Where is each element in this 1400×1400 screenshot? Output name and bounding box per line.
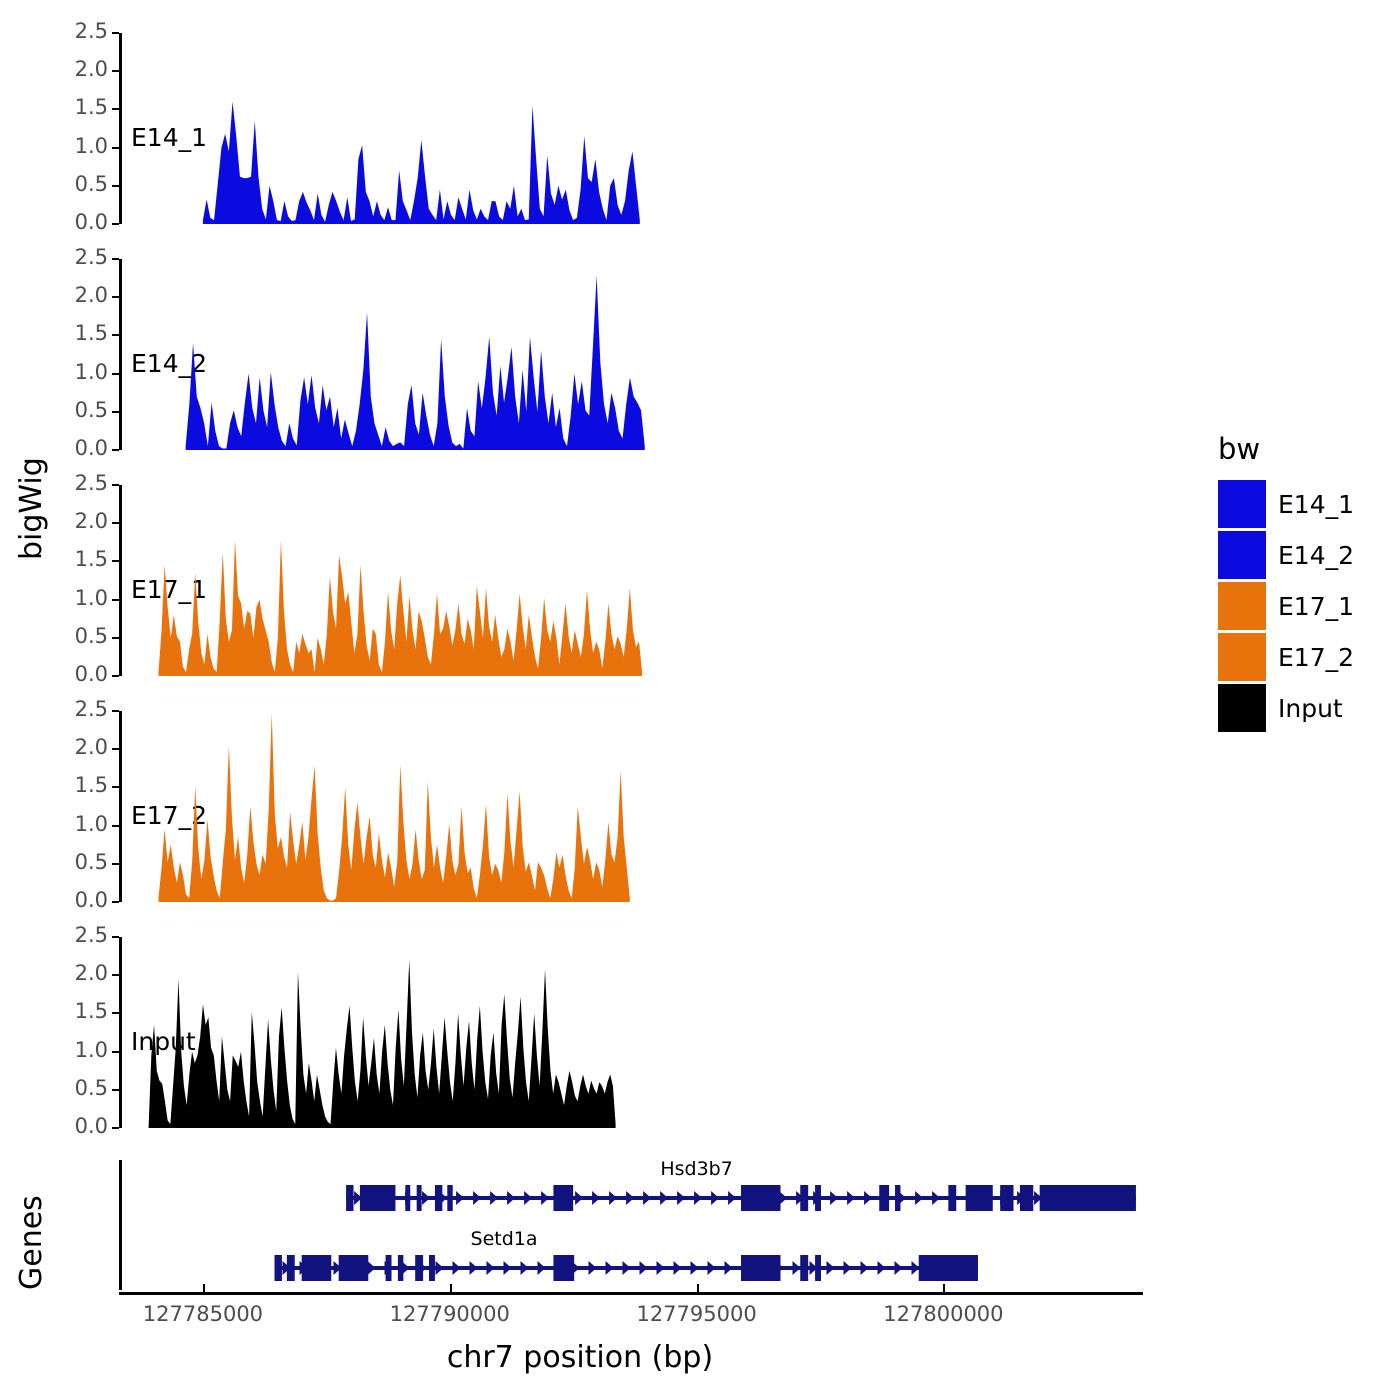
y-tick-label: 1.5 — [3, 321, 108, 345]
x-axis-title: chr7 position (bp) — [0, 1340, 1160, 1375]
y-tick-label: 1.0 — [3, 360, 108, 384]
strand-arrow-icon — [677, 1191, 685, 1205]
y-tick-mark — [112, 748, 119, 750]
gene-exon-box — [346, 1185, 353, 1211]
track-area-input — [119, 937, 1137, 1129]
strand-arrow-icon — [504, 1261, 512, 1275]
strand-arrow-icon — [422, 1191, 430, 1205]
strand-arrow-icon — [793, 1261, 801, 1275]
y-tick-mark — [112, 1012, 119, 1014]
x-tick-label: 127790000 — [350, 1302, 550, 1326]
y-tick-mark — [112, 1089, 119, 1091]
y-tick-mark — [112, 522, 119, 524]
gene-exon-box — [919, 1255, 978, 1281]
gene-exon-box — [1000, 1185, 1013, 1211]
area-polygon — [186, 276, 645, 450]
y-tick-mark — [112, 108, 119, 110]
legend-swatch-e17_1[interactable] — [1218, 582, 1266, 630]
strand-arrow-icon — [521, 1261, 529, 1275]
y-tick-label: 0.5 — [3, 850, 108, 874]
strand-arrow-icon — [725, 1261, 733, 1275]
gene-exon-box — [275, 1255, 282, 1281]
y-tick-label: 2.0 — [3, 57, 108, 81]
gene-exon-box — [405, 1185, 410, 1211]
strand-arrow-icon — [830, 1191, 838, 1205]
strand-arrow-icon — [538, 1261, 546, 1275]
y-tick-mark — [112, 560, 119, 562]
gene-exon-box — [948, 1185, 956, 1211]
legend-swatch-e14_1[interactable] — [1218, 480, 1266, 528]
legend-label-e14_1: E14_1 — [1278, 490, 1354, 519]
y-tick-mark — [112, 1127, 119, 1129]
area-polygon — [158, 540, 642, 676]
x-tick-label: 127785000 — [103, 1302, 303, 1326]
strand-arrow-icon — [490, 1191, 498, 1205]
y-tick-label: 1.5 — [3, 95, 108, 119]
y-tick-mark — [112, 710, 119, 712]
y-tick-label: 0.5 — [3, 172, 108, 196]
strand-arrow-icon — [456, 1191, 464, 1205]
y-tick-mark — [112, 637, 119, 639]
y-tick-label: 2.5 — [3, 471, 108, 495]
y-tick-mark — [112, 147, 119, 149]
y-tick-label: 2.0 — [3, 509, 108, 533]
y-tick-mark — [112, 675, 119, 677]
strand-arrow-icon — [708, 1261, 716, 1275]
gene-exon-box — [553, 1185, 573, 1211]
strand-arrow-icon — [592, 1191, 600, 1205]
y-tick-label: 2.5 — [3, 19, 108, 43]
y-tick-label: 2.5 — [3, 245, 108, 269]
x-axis-line — [119, 1292, 1143, 1295]
legend-title: bw — [1218, 432, 1260, 466]
y-tick-mark — [112, 484, 119, 486]
legend-label-input: Input — [1278, 694, 1343, 723]
y-tick-mark — [112, 185, 119, 187]
gene-exon-box — [429, 1255, 435, 1281]
strand-arrow-icon — [626, 1191, 634, 1205]
y-tick-label: 1.0 — [3, 1038, 108, 1062]
strand-arrow-icon — [691, 1261, 699, 1275]
area-polygon — [149, 960, 616, 1128]
strand-arrow-icon — [541, 1191, 549, 1205]
y-tick-label: 1.5 — [3, 773, 108, 797]
strand-arrow-icon — [606, 1261, 614, 1275]
y-tick-label: 0.0 — [3, 888, 108, 912]
gene-exon-box — [800, 1185, 808, 1211]
y-tick-mark — [112, 296, 119, 298]
track-area-e17_1 — [119, 485, 1137, 677]
y-tick-label: 1.5 — [3, 547, 108, 571]
gene-exon-box — [339, 1255, 369, 1281]
strand-arrow-icon — [847, 1191, 855, 1205]
gene-exon-box — [415, 1255, 423, 1281]
track-area-e14_2 — [119, 259, 1137, 451]
strand-arrow-icon — [589, 1261, 597, 1275]
gene-exon-box — [435, 1185, 442, 1211]
y-tick-mark — [112, 32, 119, 34]
y-tick-label: 2.5 — [3, 923, 108, 947]
strand-arrow-icon — [657, 1261, 665, 1275]
strand-arrow-icon — [640, 1261, 648, 1275]
strand-arrow-icon — [575, 1191, 583, 1205]
strand-arrow-icon — [368, 1261, 376, 1275]
y-tick-mark — [112, 786, 119, 788]
gene-exon-box — [800, 1255, 808, 1281]
y-tick-mark — [112, 411, 119, 413]
y-tick-mark — [112, 223, 119, 225]
gene-exon-box — [741, 1255, 780, 1281]
y-tick-label: 0.0 — [3, 436, 108, 460]
strand-arrow-icon — [827, 1261, 835, 1275]
y-tick-label: 1.5 — [3, 999, 108, 1023]
legend-label-e14_2: E14_2 — [1278, 541, 1354, 570]
strand-arrow-icon — [453, 1261, 461, 1275]
y-tick-mark — [112, 974, 119, 976]
strand-arrow-icon — [436, 1261, 444, 1275]
x-tick-label: 127795000 — [597, 1302, 797, 1326]
gene-exon-box — [386, 1255, 392, 1281]
y-tick-mark — [112, 599, 119, 601]
y-tick-label: 0.0 — [3, 210, 108, 234]
y-tick-label: 1.0 — [3, 812, 108, 836]
gene-exon-box — [398, 1255, 403, 1281]
x-tick-label: 127800000 — [843, 1302, 1043, 1326]
y-tick-label: 0.5 — [3, 624, 108, 648]
y-tick-mark — [112, 334, 119, 336]
strand-arrow-icon — [932, 1191, 940, 1205]
strand-arrow-icon — [487, 1261, 495, 1275]
gene-exon-box — [302, 1255, 332, 1281]
legend-label-e17_1: E17_1 — [1278, 592, 1354, 621]
gene-exon-box — [815, 1255, 821, 1281]
strand-arrow-icon — [878, 1261, 886, 1275]
strand-arrow-icon — [915, 1191, 923, 1205]
y-tick-label: 0.5 — [3, 1076, 108, 1100]
x-tick-mark — [450, 1284, 452, 1292]
gene-exon-box — [553, 1255, 574, 1281]
gene-exon-box — [1020, 1185, 1033, 1211]
y-tick-mark — [112, 901, 119, 903]
gene-exon-box — [879, 1185, 889, 1211]
y-tick-label: 2.0 — [3, 961, 108, 985]
strand-arrow-icon — [473, 1191, 481, 1205]
strand-arrow-icon — [861, 1261, 869, 1275]
y-tick-label: 0.5 — [3, 398, 108, 422]
strand-arrow-icon — [864, 1191, 872, 1205]
strand-arrow-icon — [507, 1191, 515, 1205]
gene-exon-box — [287, 1255, 295, 1281]
strand-arrow-icon — [643, 1191, 651, 1205]
y-tick-label: 2.0 — [3, 735, 108, 759]
strand-arrow-icon — [674, 1261, 682, 1275]
y-tick-mark — [112, 825, 119, 827]
strand-arrow-icon — [694, 1191, 702, 1205]
strand-arrow-icon — [609, 1191, 617, 1205]
gene-exon-box — [966, 1185, 993, 1211]
gene-exon-box — [815, 1185, 821, 1211]
strand-arrow-icon — [844, 1261, 852, 1275]
genes-axis-title: Genes — [14, 1195, 49, 1290]
area-polygon — [203, 102, 640, 224]
x-tick-mark — [943, 1284, 945, 1292]
legend-swatch-e14_2[interactable] — [1218, 531, 1266, 579]
track-area-e14_1 — [119, 33, 1137, 225]
x-tick-mark — [203, 1284, 205, 1292]
strand-arrow-icon — [728, 1191, 736, 1205]
y-tick-label: 2.5 — [3, 697, 108, 721]
y-tick-mark — [112, 373, 119, 375]
y-tick-mark — [112, 936, 119, 938]
legend-swatch-e17_2[interactable] — [1218, 633, 1266, 681]
y-tick-mark — [112, 70, 119, 72]
y-tick-mark — [112, 863, 119, 865]
y-tick-label: 0.0 — [3, 662, 108, 686]
gene-exon-box — [447, 1185, 452, 1211]
y-tick-mark — [112, 258, 119, 260]
y-tick-label: 2.0 — [3, 283, 108, 307]
genes-svg — [119, 1160, 1151, 1300]
y-tick-mark — [112, 1051, 119, 1053]
strand-arrow-icon — [660, 1191, 668, 1205]
legend-swatch-input[interactable] — [1218, 684, 1266, 732]
strand-arrow-icon — [895, 1261, 903, 1275]
strand-arrow-icon — [470, 1261, 478, 1275]
strand-arrow-icon — [524, 1191, 532, 1205]
y-tick-label: 0.0 — [3, 1114, 108, 1138]
y-tick-mark — [112, 449, 119, 451]
gene-exon-box — [417, 1185, 422, 1211]
strand-arrow-icon — [912, 1261, 920, 1275]
gene-exon-box — [741, 1185, 780, 1211]
strand-arrow-icon — [623, 1261, 631, 1275]
area-polygon — [158, 713, 629, 902]
legend-label-e17_2: E17_2 — [1278, 643, 1354, 672]
gene-exon-box — [895, 1185, 900, 1211]
strand-arrow-icon — [711, 1191, 719, 1205]
gene-exon-box — [360, 1185, 396, 1211]
y-tick-label: 1.0 — [3, 134, 108, 158]
track-area-e17_2 — [119, 711, 1137, 903]
y-tick-label: 1.0 — [3, 586, 108, 610]
gene-exon-box — [1040, 1185, 1136, 1211]
x-tick-mark — [697, 1284, 699, 1292]
